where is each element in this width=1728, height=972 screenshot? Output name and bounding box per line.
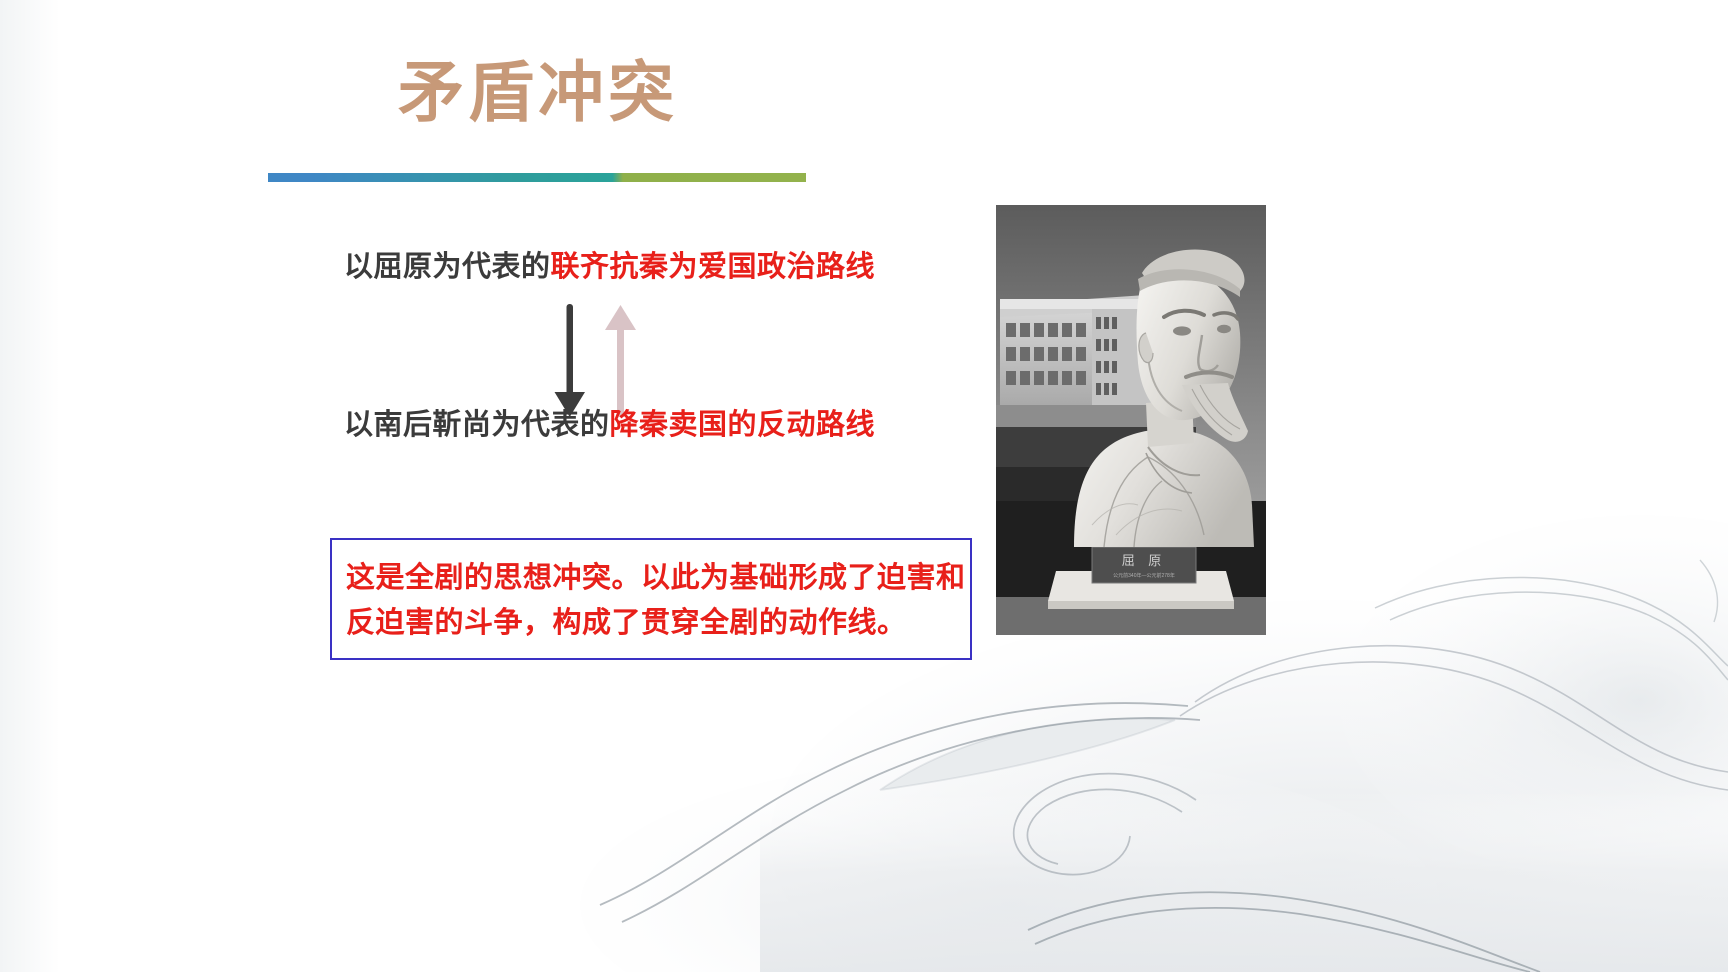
page-title: 矛盾冲突 <box>268 58 808 127</box>
qu-yuan-statue-photo: 屈 原 公元前340年—公元前278年 <box>996 205 1266 635</box>
slide-canvas: 矛盾冲突 以屈原为代表的联齐抗秦为爱国政治路线 以南后靳尚为代表的降秦卖国的反动… <box>0 0 1728 972</box>
line1-plain-text: 以屈原为代表的 <box>344 251 551 283</box>
callout-line-1: 这是全剧的思想冲突。以此为基础形成了迫害和 <box>346 556 960 601</box>
background-left-tint <box>0 0 60 972</box>
statement-line-traitorous: 以南后靳尚为代表的降秦卖国的反动路线 <box>344 401 875 443</box>
arrow-up-icon <box>605 305 636 416</box>
line1-highlight-text: 联齐抗秦为爱国政治路线 <box>551 251 876 283</box>
svg-text:公元前340年—公元前278年: 公元前340年—公元前278年 <box>1113 572 1175 579</box>
ink-wash-background <box>0 0 1728 972</box>
svg-text:屈 原: 屈 原 <box>1122 553 1167 568</box>
title-underline-rule <box>268 173 806 182</box>
statement-line-patriotic: 以屈原为代表的联齐抗秦为爱国政治路线 <box>344 243 875 285</box>
line2-plain-text: 以南后靳尚为代表的 <box>344 409 610 441</box>
callout-text-block: 这是全剧的思想冲突。以此为基础形成了迫害和 反迫害的斗争，构成了贯穿全剧的动作线… <box>346 556 960 646</box>
callout-line-2: 反迫害的斗争，构成了贯穿全剧的动作线。 <box>346 601 960 646</box>
line2-highlight-text: 降秦卖国的反动路线 <box>610 409 876 441</box>
callout-box: 这是全剧的思想冲突。以此为基础形成了迫害和 反迫害的斗争，构成了贯穿全剧的动作线… <box>330 538 972 660</box>
